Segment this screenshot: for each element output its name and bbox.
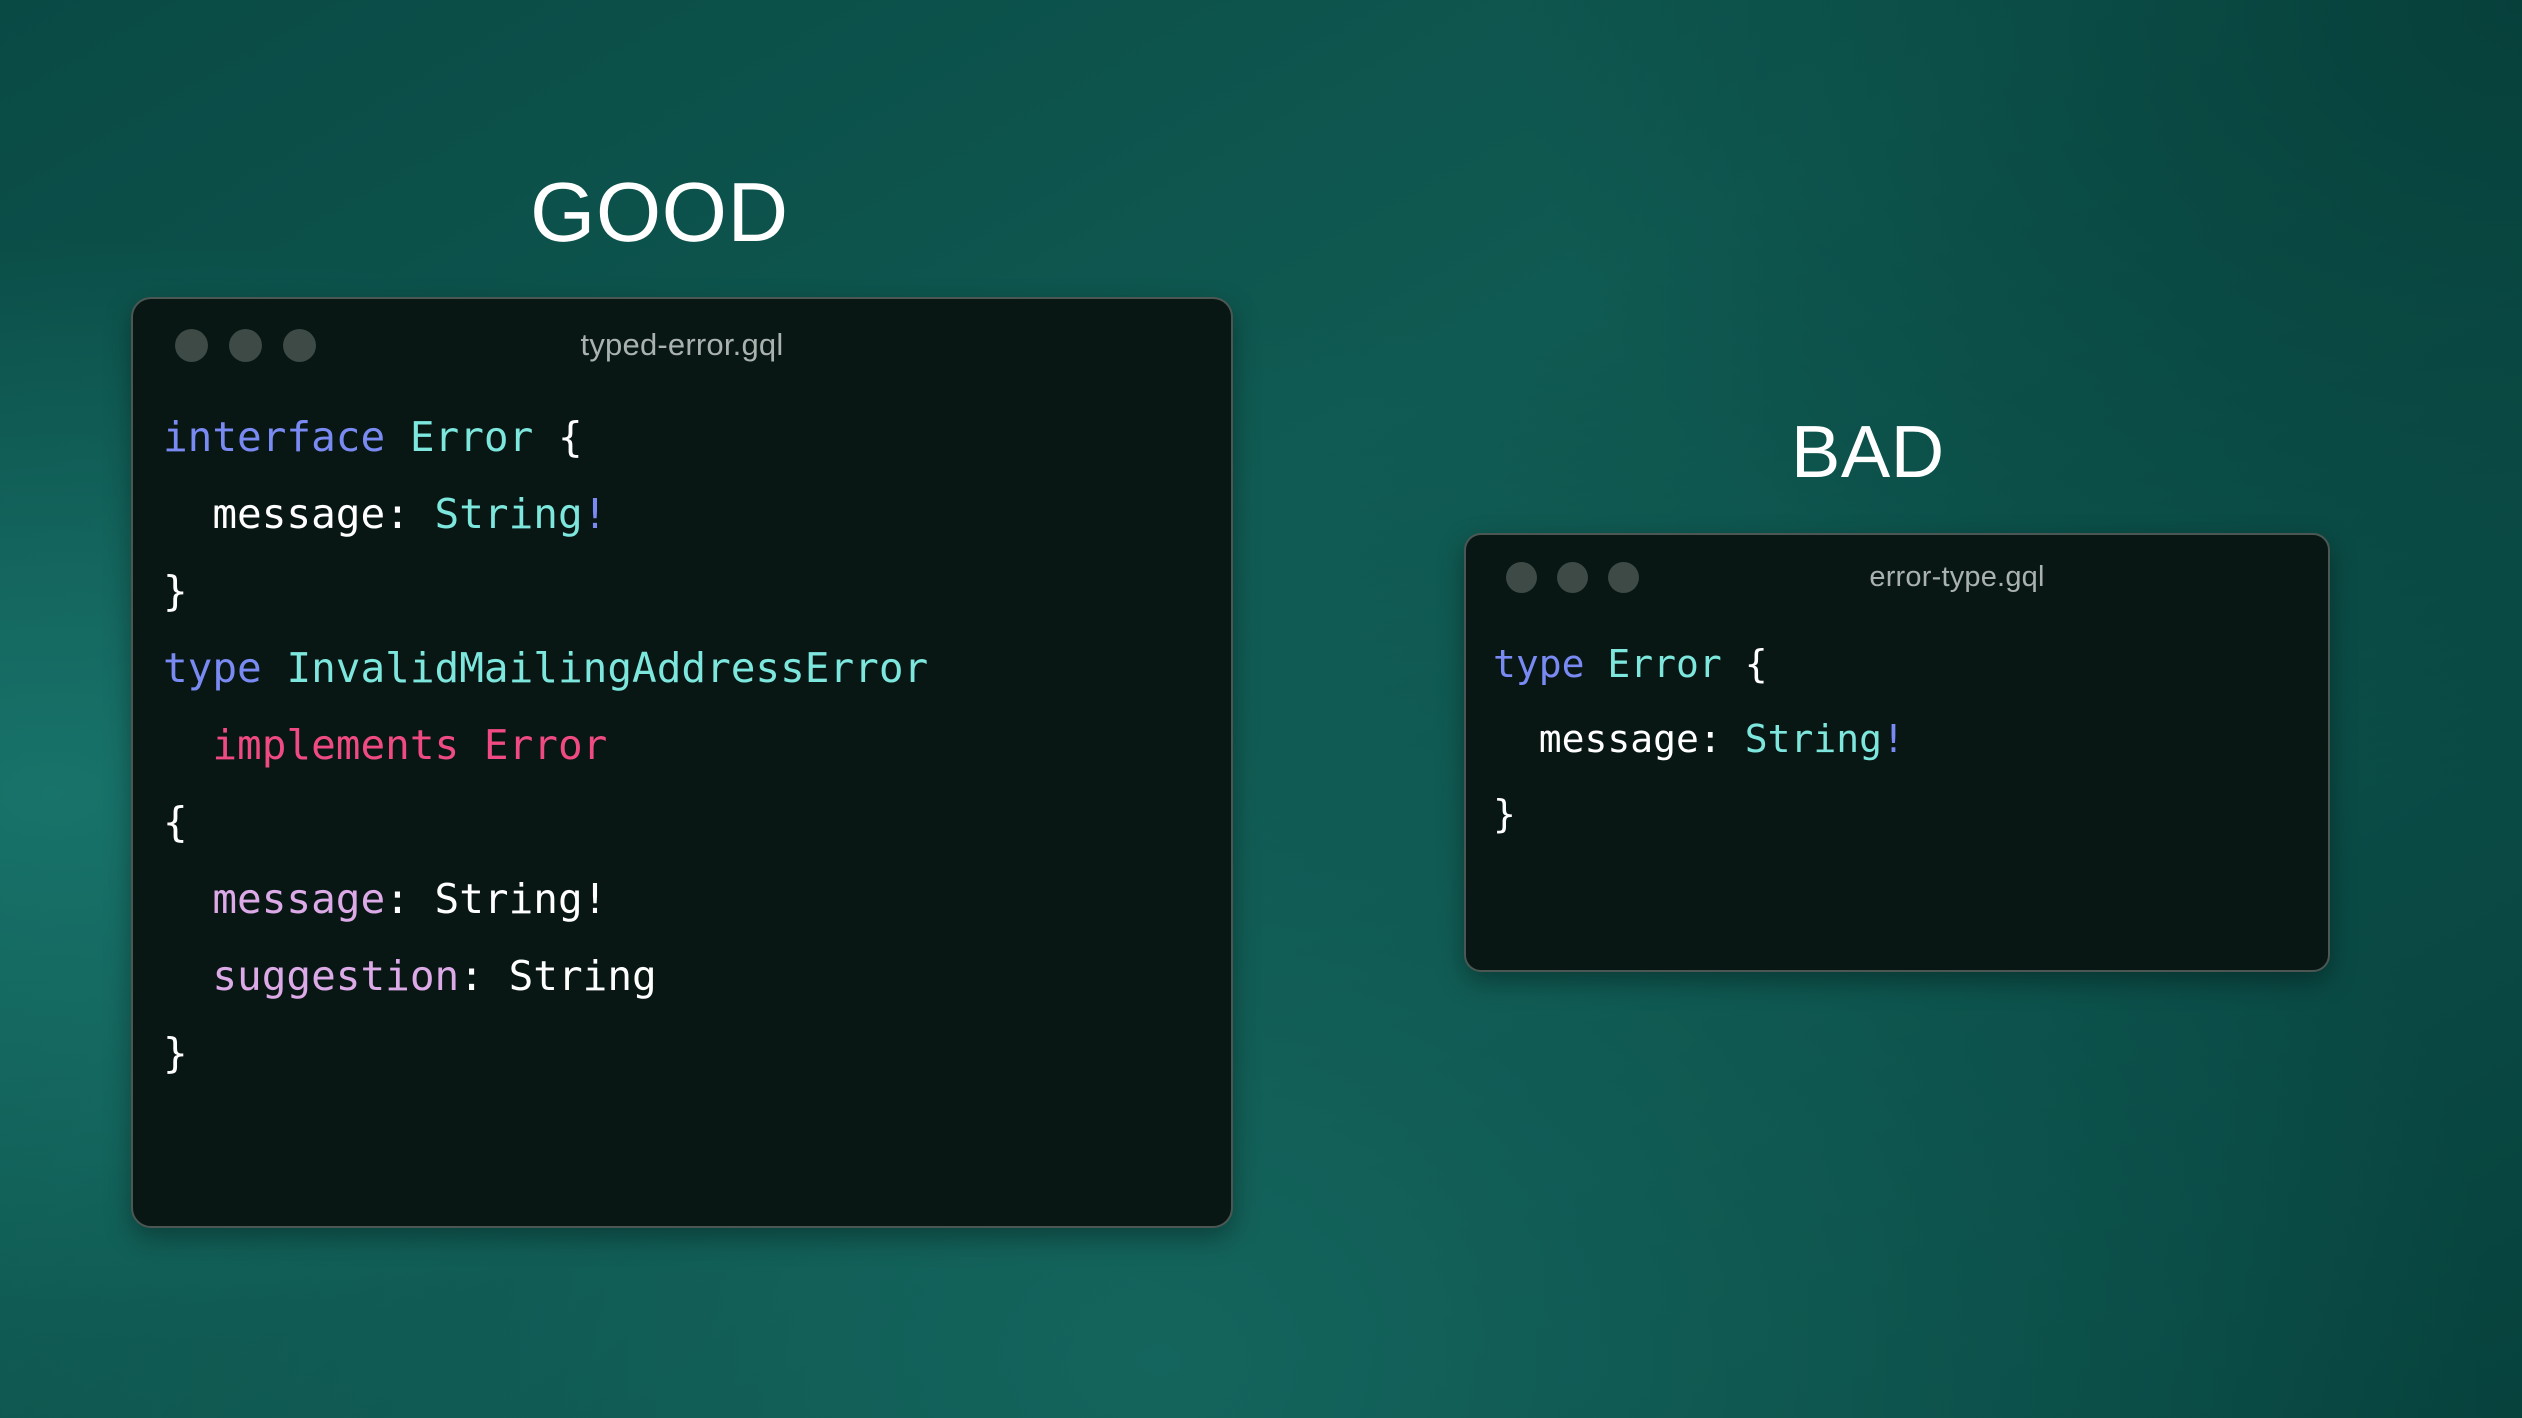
code-token-keyword: type: [163, 644, 262, 692]
heading-good: GOOD: [530, 170, 789, 254]
code-token-implements: implements Error: [212, 721, 607, 769]
code-token-punct: }: [1493, 792, 1516, 836]
window-titlebar: typed-error.gql: [133, 299, 1231, 391]
slide-canvas: GOOD typed-error.gql interface Error { m…: [0, 0, 2522, 1418]
code-token-punct: {: [1745, 642, 1768, 686]
code-window-good: typed-error.gql interface Error { messag…: [131, 297, 1233, 1228]
code-token-punct: }: [163, 567, 188, 615]
code-line: message: String!: [163, 476, 1231, 553]
code-token-string-white: String!: [435, 875, 608, 923]
code-token-type: Error: [410, 413, 533, 461]
code-token-plain: [1585, 642, 1608, 686]
window-titlebar: error-type.gql: [1466, 535, 2328, 619]
traffic-light-close-icon[interactable]: [1506, 562, 1537, 593]
code-token-plain: [163, 952, 212, 1000]
code-token-punct: }: [163, 1029, 188, 1077]
code-line: {: [163, 784, 1231, 861]
code-token-type: InvalidMailingAddressError: [286, 644, 928, 692]
traffic-light-minimize-icon[interactable]: [229, 329, 262, 362]
traffic-light-maximize-icon[interactable]: [283, 329, 316, 362]
code-token-punct: :: [385, 490, 434, 538]
code-block-good: interface Error { message: String!}type …: [133, 391, 1231, 1092]
code-token-keyword: type: [1493, 642, 1585, 686]
code-block-bad: type Error { message: String!}: [1466, 619, 2328, 852]
code-token-field-purple: message: [212, 875, 385, 923]
code-line: type InvalidMailingAddressError: [163, 630, 1231, 707]
code-token-string-cyan: String: [435, 490, 583, 538]
code-token-punct: :: [459, 952, 508, 1000]
heading-bad: BAD: [1791, 415, 1945, 489]
code-line: }: [1493, 777, 2328, 852]
code-line: suggestion: String: [163, 938, 1231, 1015]
code-token-string-white: String: [509, 952, 657, 1000]
code-token-bang: !: [583, 490, 608, 538]
code-token-bang: !: [1882, 717, 1905, 761]
code-token-keyword: interface: [163, 413, 385, 461]
code-line: }: [163, 553, 1231, 630]
traffic-light-maximize-icon[interactable]: [1608, 562, 1639, 593]
code-line: }: [163, 1015, 1231, 1092]
traffic-light-minimize-icon[interactable]: [1557, 562, 1588, 593]
code-token-plain: [385, 413, 410, 461]
code-token-type: Error: [1607, 642, 1721, 686]
code-token-plain: [262, 644, 287, 692]
code-token-plain: [163, 875, 212, 923]
code-window-bad: error-type.gql type Error { message: Str…: [1464, 533, 2330, 972]
code-token-punct: :: [1699, 717, 1745, 761]
code-token-punct: :: [385, 875, 434, 923]
traffic-lights: [175, 329, 316, 362]
traffic-lights: [1506, 562, 1639, 593]
window-filename: error-type.gql: [1586, 561, 2328, 594]
traffic-light-close-icon[interactable]: [175, 329, 208, 362]
code-token-plain: [163, 490, 212, 538]
code-token-plain: [163, 721, 212, 769]
code-token-plain: [1722, 642, 1745, 686]
code-token-field-purple: suggestion: [212, 952, 459, 1000]
code-line: interface Error {: [163, 399, 1231, 476]
code-token-plain: [1493, 717, 1539, 761]
code-token-string-cyan: String: [1745, 717, 1882, 761]
code-line: implements Error: [163, 707, 1231, 784]
code-token-punct: {: [558, 413, 583, 461]
code-line: message: String!: [163, 861, 1231, 938]
code-token-plain: [533, 413, 558, 461]
code-line: message: String!: [1493, 702, 2328, 777]
code-token-punct: {: [163, 798, 188, 846]
code-line: type Error {: [1493, 627, 2328, 702]
code-token-field: message: [212, 490, 385, 538]
code-token-field: message: [1539, 717, 1699, 761]
